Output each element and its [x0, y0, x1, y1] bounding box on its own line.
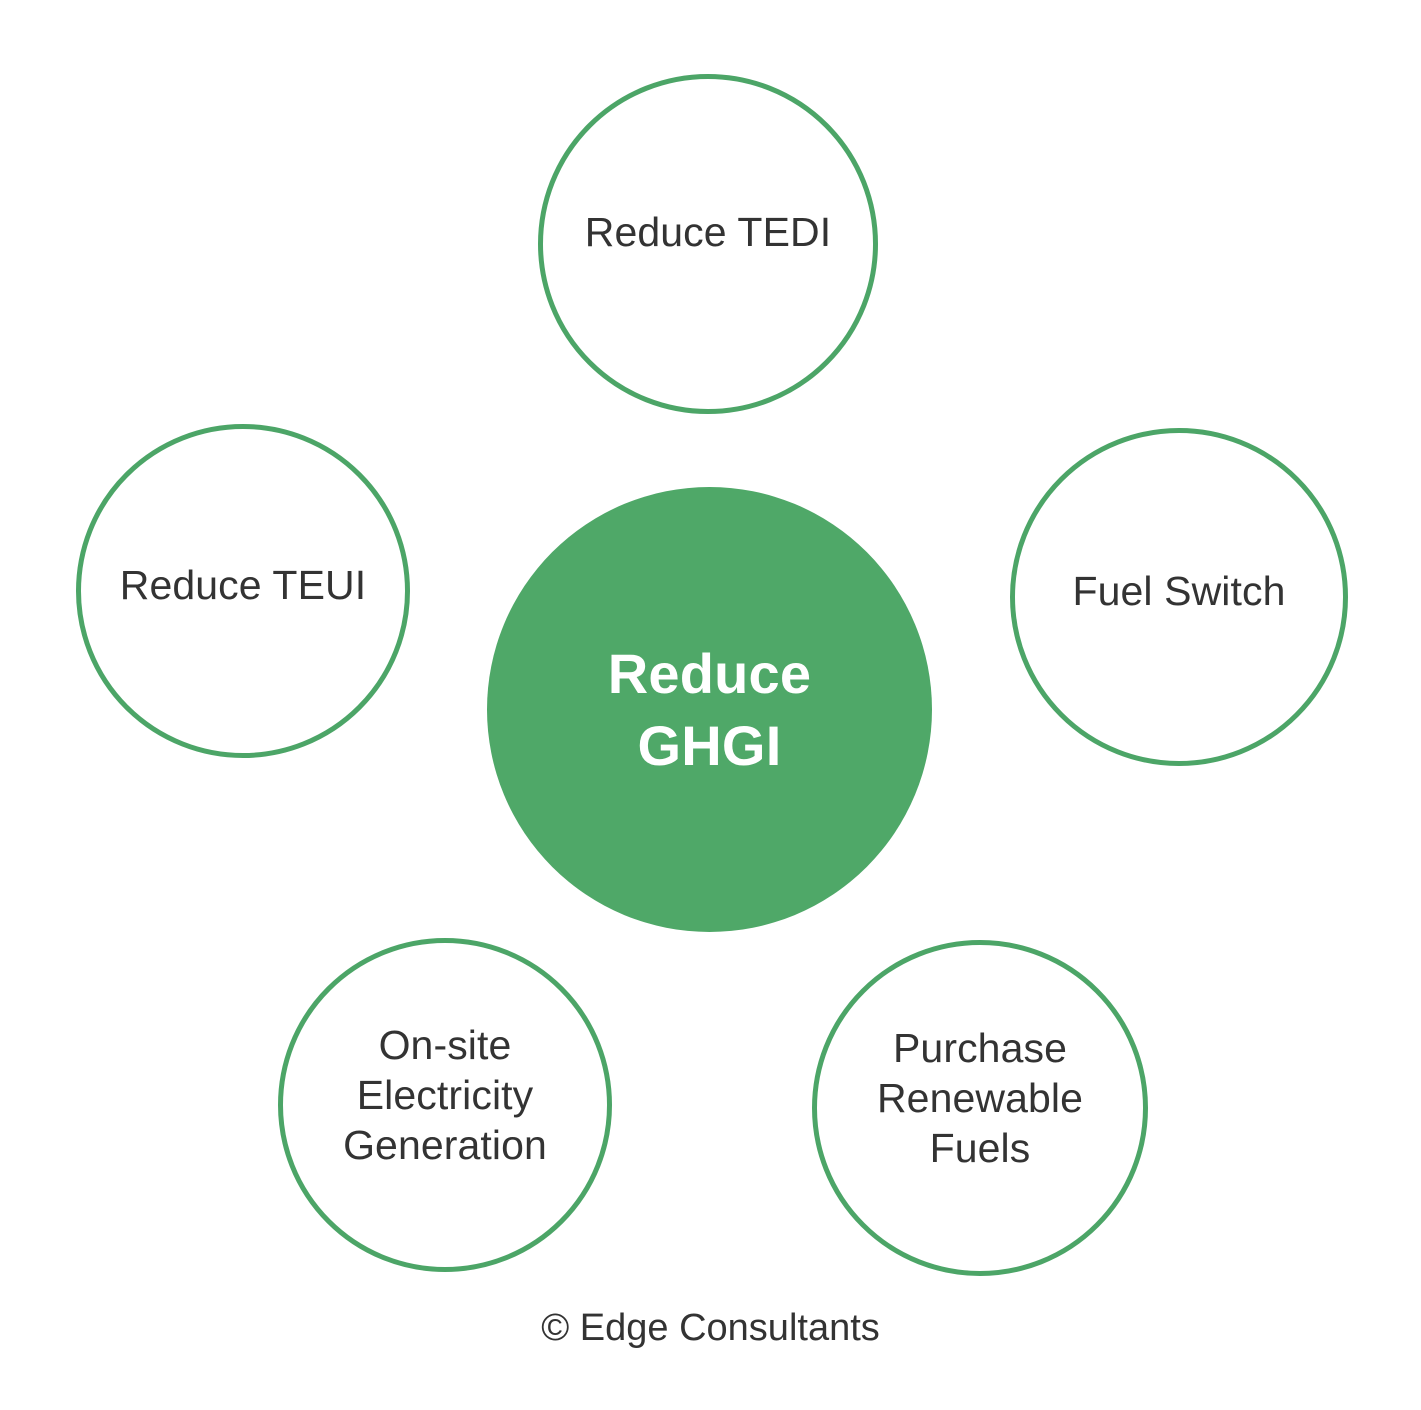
- node-reduce-tedi[interactable]: Reduce TEDI: [538, 74, 878, 414]
- node-label-purchase-renewable-fuels: Purchase Renewable Fuels: [877, 1023, 1083, 1173]
- node-label-reduce-ghgi: Reduce GHGI: [608, 638, 812, 781]
- node-label-fuel-switch: Fuel Switch: [1072, 566, 1285, 616]
- node-reduce-ghgi-hub[interactable]: Reduce GHGI: [487, 487, 932, 932]
- copyright-credit: © Edge Consultants: [0, 1307, 1421, 1350]
- diagram-canvas: Reduce TEDI Reduce TEUI Fuel Switch On-s…: [0, 0, 1421, 1410]
- node-label-on-site-electricity-generation: On-site Electricity Generation: [343, 1020, 547, 1170]
- node-label-reduce-tedi: Reduce TEDI: [585, 207, 831, 257]
- node-purchase-renewable-fuels[interactable]: Purchase Renewable Fuels: [812, 940, 1148, 1276]
- node-label-reduce-teui: Reduce TEUI: [120, 560, 366, 610]
- node-on-site-electricity-generation[interactable]: On-site Electricity Generation: [278, 938, 612, 1272]
- node-fuel-switch[interactable]: Fuel Switch: [1010, 428, 1348, 766]
- node-reduce-teui[interactable]: Reduce TEUI: [76, 424, 410, 758]
